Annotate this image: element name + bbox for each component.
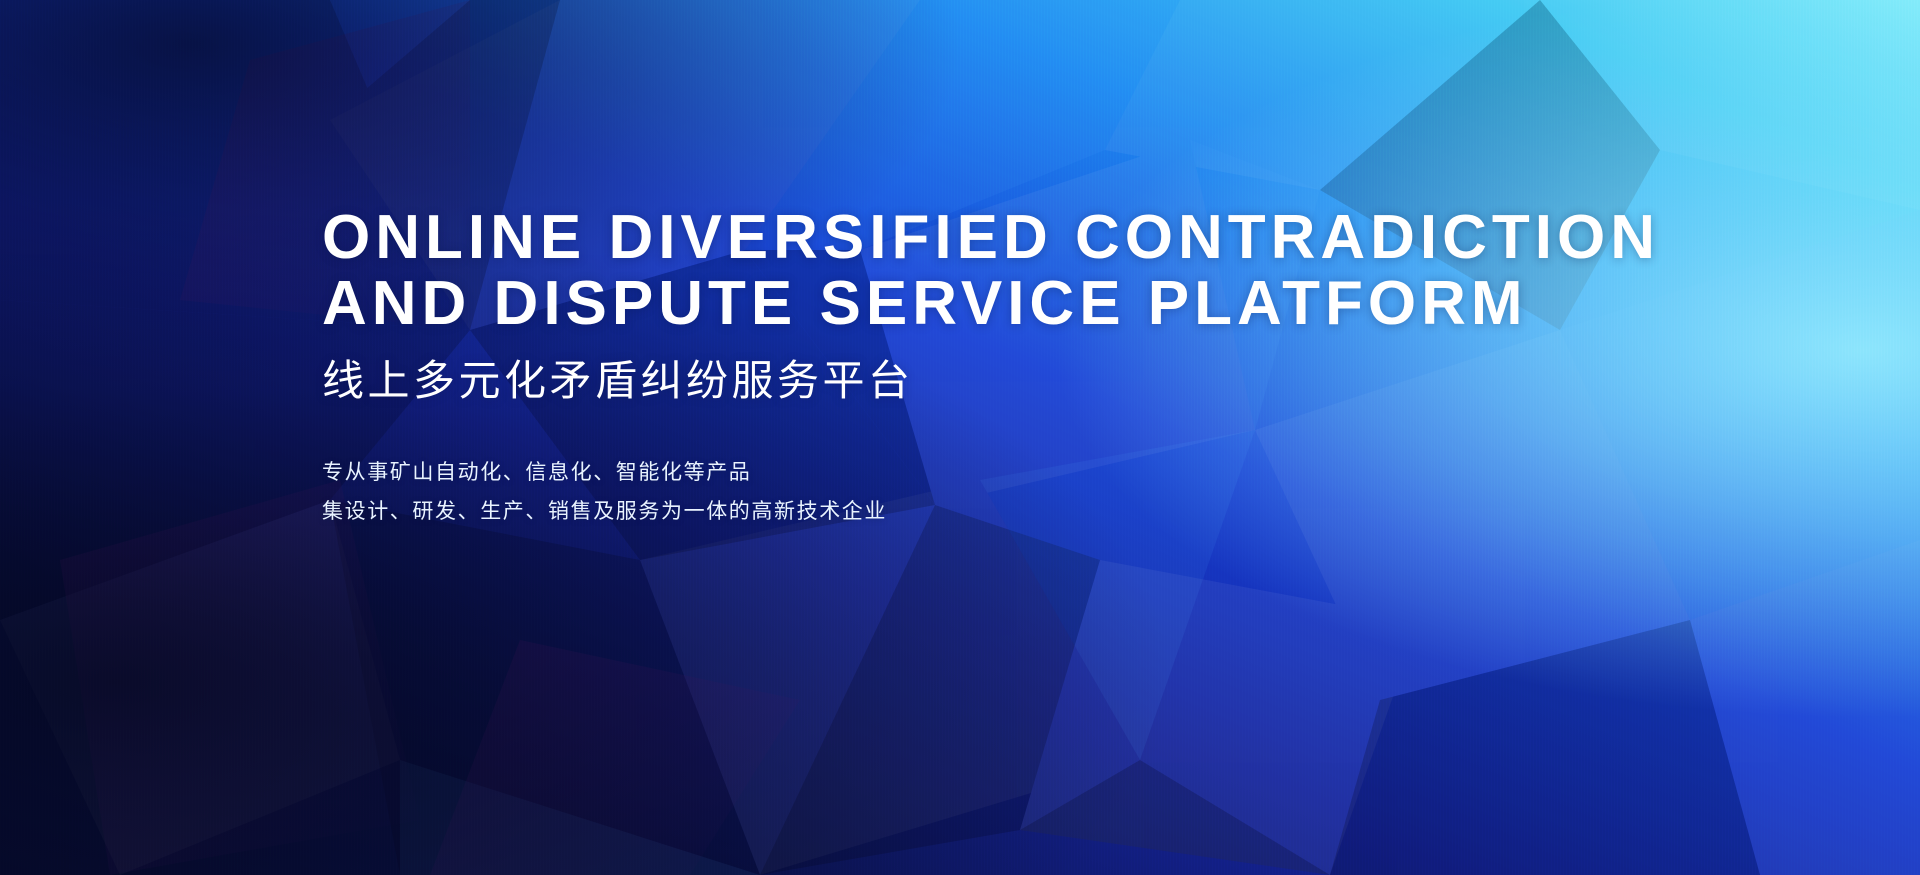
description-line-2: 集设计、研发、生产、销售及服务为一体的高新技术企业 — [322, 492, 1622, 531]
description-block: 专从事矿山自动化、信息化、智能化等产品 集设计、研发、生产、销售及服务为一体的高… — [322, 453, 1622, 531]
description-line-1: 专从事矿山自动化、信息化、智能化等产品 — [322, 453, 1622, 492]
hero-content: ONLINE DIVERSIFIED CONTRADICTION AND DIS… — [322, 205, 1622, 531]
headline-line-1: ONLINE DIVERSIFIED CONTRADICTION — [322, 205, 1622, 271]
hero-banner: ONLINE DIVERSIFIED CONTRADICTION AND DIS… — [0, 0, 1920, 875]
subtitle-chinese: 线上多元化矛盾纠纷服务平台 — [322, 355, 1622, 407]
headline-line-2: AND DISPUTE SERVICE PLATFORM — [322, 271, 1622, 337]
